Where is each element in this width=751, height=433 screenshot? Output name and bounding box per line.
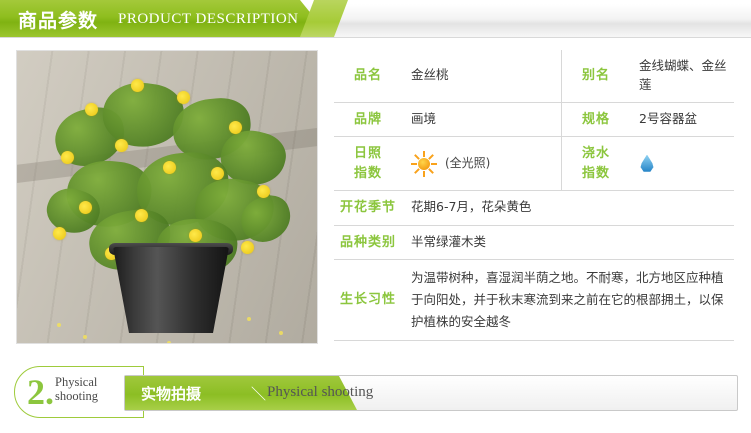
spec-value-pinming: 金丝桃 bbox=[402, 50, 562, 102]
spec-label-jiaoshui-line1: 浇水 bbox=[568, 144, 624, 164]
spec-label-kaihuajijie: 开花季节 bbox=[334, 191, 402, 226]
photo-pot bbox=[113, 247, 229, 333]
spec-label-pinzhongleibie: 品种类别 bbox=[334, 225, 402, 260]
spec-label-jiaoshui-line2: 指数 bbox=[568, 164, 624, 184]
spec-value-rizhao: (全光照) bbox=[402, 137, 562, 191]
spec-table: 品名 金丝桃 别名 金线蝴蝶、金丝莲 品牌 画境 规格 2号容器盆 日照 指数 bbox=[334, 50, 734, 341]
product-photo bbox=[16, 50, 318, 344]
spec-label-shengzhangxixing: 生长习性 bbox=[334, 260, 402, 341]
sun-icon bbox=[411, 151, 437, 177]
spec-label-rizhao: 日照 指数 bbox=[334, 137, 402, 191]
spec-value-bieming: 金线蝴蝶、金丝莲 bbox=[630, 50, 734, 102]
spec-value-guige: 2号容器盆 bbox=[630, 102, 734, 137]
table-row: 品种类别 半常绿灌木类 bbox=[334, 225, 734, 260]
table-row: 品名 金丝桃 别名 金线蝴蝶、金丝莲 bbox=[334, 50, 734, 102]
spec-label-bieming: 别名 bbox=[562, 50, 631, 102]
spec-value-kaihuajijie: 花期6-7月，花朵黄色 bbox=[402, 191, 734, 226]
spec-label-pinpai: 品牌 bbox=[334, 102, 402, 137]
spec-value-shengzhangxixing: 为温带树种，喜湿润半荫之地。不耐寒，北方地区应种植于向阳处，并于秋末寒流到来之前… bbox=[402, 260, 734, 341]
footer-bar-slash: ＼ bbox=[251, 383, 266, 404]
page-title-en: PRODUCT DESCRIPTION bbox=[118, 11, 299, 28]
spec-label-rizhao-line1: 日照 bbox=[340, 144, 396, 164]
spec-value-rizhao-note: (全光照) bbox=[445, 156, 490, 170]
spec-label-pinming: 品名 bbox=[334, 50, 402, 102]
page-header: 商品参数 PRODUCT DESCRIPTION bbox=[0, 0, 751, 44]
page-title-cn: 商品参数 bbox=[18, 6, 98, 33]
spec-value-jiaoshui bbox=[630, 137, 734, 191]
footer-bar-title-en: Physical shooting bbox=[267, 384, 373, 401]
spec-value-pinzhongleibie: 半常绿灌木类 bbox=[402, 225, 734, 260]
spec-label-guige: 规格 bbox=[562, 102, 631, 137]
spec-label-rizhao-line2: 指数 bbox=[340, 164, 396, 184]
table-row: 日照 指数 (全光照) 浇水 指数 bbox=[334, 137, 734, 191]
water-drop-icon bbox=[639, 153, 655, 175]
footer-bar: 实物拍摄 ＼ Physical shooting bbox=[124, 375, 738, 411]
table-row: 生长习性 为温带树种，喜湿润半荫之地。不耐寒，北方地区应种植于向阳处，并于秋末寒… bbox=[334, 260, 734, 341]
spec-label-jiaoshui: 浇水 指数 bbox=[562, 137, 631, 191]
section-footer: 2. Physical shooting 实物拍摄 ＼ Physical sho… bbox=[14, 366, 736, 418]
footer-bar-title-cn: 实物拍摄 bbox=[141, 383, 201, 404]
table-row: 开花季节 花期6-7月，花朵黄色 bbox=[334, 191, 734, 226]
spec-value-pinpai: 画境 bbox=[402, 102, 562, 137]
footer-number: 2. bbox=[27, 371, 54, 413]
table-row: 品牌 画境 规格 2号容器盆 bbox=[334, 102, 734, 137]
